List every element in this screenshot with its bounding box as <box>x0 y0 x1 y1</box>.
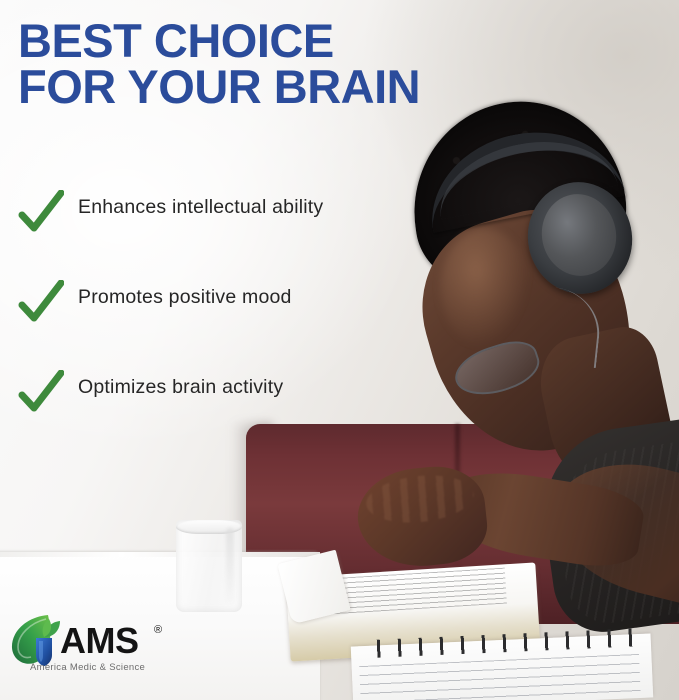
page-title: BEST CHOICE FOR YOUR BRAIN <box>18 18 538 110</box>
registered-trademark-icon: ® <box>154 624 162 636</box>
check-mark-icon <box>18 280 64 324</box>
list-item: Promotes positive mood <box>16 276 436 366</box>
check-mark-icon <box>18 370 64 414</box>
brand-logo: AMS ® America Medic & Science <box>8 606 198 686</box>
check-mark-icon <box>18 190 64 234</box>
list-item: Optimizes brain activity <box>16 366 436 456</box>
product-banner: BEST CHOICE FOR YOUR BRAIN Enhances inte… <box>0 0 679 700</box>
benefits-list: Enhances intellectual ability Promotes p… <box>16 186 436 456</box>
list-item-label: Promotes positive mood <box>78 286 292 309</box>
list-item: Enhances intellectual ability <box>16 186 436 276</box>
logo-tagline: America Medic & Science <box>30 662 145 673</box>
list-item-label: Optimizes brain activity <box>78 376 283 399</box>
headline-line-2: FOR YOUR BRAIN <box>18 64 538 110</box>
table-edge <box>0 552 320 557</box>
drinking-glass-highlight <box>226 528 234 604</box>
headline-line-1: BEST CHOICE <box>18 18 538 64</box>
list-item-label: Enhances intellectual ability <box>78 196 323 219</box>
logo-wordmark: AMS <box>60 620 139 662</box>
